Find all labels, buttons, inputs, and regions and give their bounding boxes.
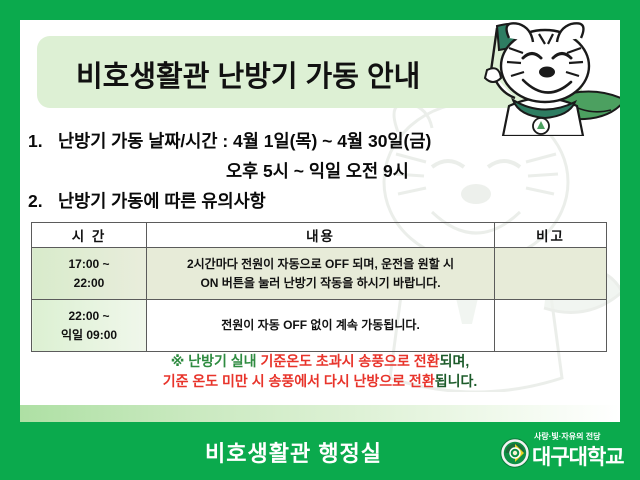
list-item-1-text: 난방기 가동 날짜/시간 : 4월 1일(목) ~ 4월 30일(금) [58, 131, 431, 151]
footer-band: 비호생활관 행정실 사랑·빛·자유의 전당 대구대학교 [0, 422, 640, 480]
cell-content: 2시간마다 전원이 자동으로 OFF 되며, 운전을 원할 시 ON 버튼을 눌… [147, 248, 495, 300]
list-item-1: 1.난방기 가동 날짜/시간 : 4월 1일(목) ~ 4월 30일(금) [28, 128, 431, 153]
cell-time-line1: 17:00 ~ [32, 255, 146, 274]
footnote-line1-lead: ※ 난방기 실내 [171, 353, 261, 369]
slide-canvas: 비호생활관 난방기 가동 안내 [0, 0, 640, 480]
footnote-line1-tail: 되며, [440, 353, 470, 369]
cell-note [495, 300, 607, 352]
list-item-1-continuation: 오후 5시 ~ 익일 오전 9시 [226, 158, 409, 183]
table-header-note: 비고 [495, 223, 607, 248]
cell-time: 17:00 ~ 22:00 [32, 248, 147, 300]
page-bottom-fade [20, 405, 620, 422]
list-item-2-text: 난방기 가동에 따른 유의사항 [58, 191, 266, 211]
table-row: 22:00 ~ 익일 09:00 전원이 자동 OFF 없이 계속 가동됩니다. [32, 300, 607, 352]
table-row: 17:00 ~ 22:00 2시간마다 전원이 자동으로 OFF 되며, 운전을… [32, 248, 607, 300]
cell-time-line1: 22:00 ~ [32, 307, 146, 326]
university-emblem-icon [500, 438, 530, 468]
footnote: ※ 난방기 실내 기준온도 초과시 송풍으로 전환되며, 기준 온도 미만 시 … [20, 352, 620, 392]
footnote-line2-highlight: 기준 온도 미만 시 송풍에서 다시 난방으로 전환 [163, 373, 435, 389]
cell-content-line1: 2시간마다 전원이 자동으로 OFF 되며, 운전을 원할 시 [147, 255, 494, 274]
footnote-line-1: ※ 난방기 실내 기준온도 초과시 송풍으로 전환되며, [20, 352, 620, 372]
table-header-content: 내용 [147, 223, 495, 248]
cell-content-line2: ON 버튼을 눌러 난방기 작동을 하시기 바랍니다. [147, 274, 494, 293]
slide-page: 비호생활관 난방기 가동 안내 [20, 20, 620, 422]
cell-note [495, 248, 607, 300]
footnote-line1-highlight: 기준온도 초과시 송풍으로 전환 [260, 353, 439, 369]
footnote-line-2: 기준 온도 미만 시 송풍에서 다시 난방으로 전환됩니다. [20, 372, 620, 392]
logo-university-name: 대구대학교 [532, 441, 624, 471]
table-header-row: 시 간 내용 비고 [32, 223, 607, 248]
list-item-2: 2.난방기 가동에 따른 유의사항 [28, 188, 266, 213]
list-item-2-number: 2. [28, 191, 58, 212]
cell-time: 22:00 ~ 익일 09:00 [32, 300, 147, 352]
university-logo: 사랑·빛·자유의 전당 대구대학교 [500, 430, 636, 472]
list-item-1-number: 1. [28, 131, 58, 152]
operation-notice-table: 시 간 내용 비고 17:00 ~ 22:00 2시간마다 전원이 자동으로 O… [31, 222, 607, 352]
footer-title: 비호생활관 행정실 [205, 436, 382, 468]
tiger-mascot-with-flag-icon [457, 20, 620, 136]
cell-content: 전원이 자동 OFF 없이 계속 가동됩니다. [147, 300, 495, 352]
table-header-time: 시 간 [32, 223, 147, 248]
cell-content-line1: 전원이 자동 OFF 없이 계속 가동됩니다. [147, 316, 494, 335]
cell-time-line2: 익일 09:00 [32, 326, 146, 345]
footnote-line2-tail: 됩니다. [435, 373, 478, 389]
page-title: 비호생활관 난방기 가동 안내 [76, 53, 420, 95]
cell-time-line2: 22:00 [32, 274, 146, 293]
